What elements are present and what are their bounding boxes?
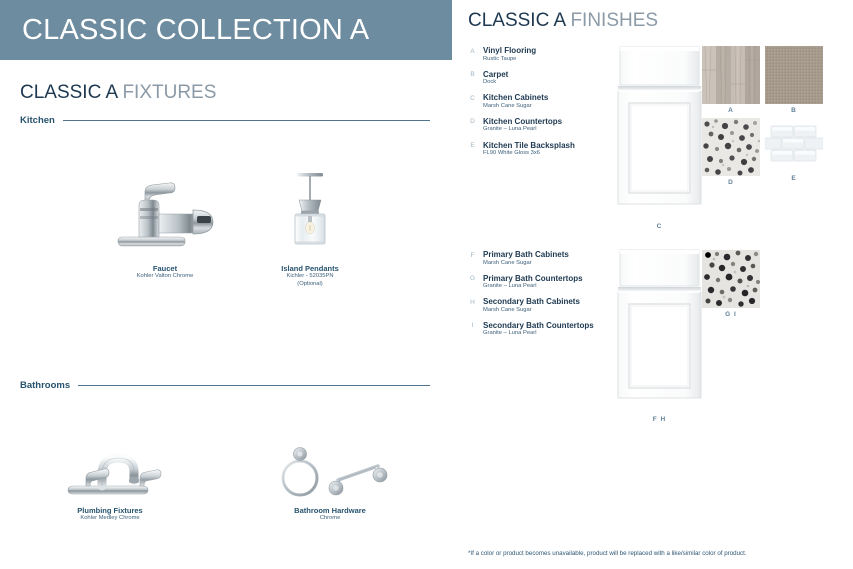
kitchen-faucet-icon — [100, 170, 230, 260]
subway-tile-swatch — [765, 122, 823, 172]
legend-key: C — [468, 93, 477, 110]
group-bathrooms-label: Bathrooms — [20, 380, 70, 391]
spec-sheet-page: CLASSIC COLLECTION A CLASSIC A FIXTURES … — [0, 0, 853, 569]
granite-swatch — [702, 118, 760, 176]
fixture-faucet: Faucet Kohler Valton Chrome — [100, 170, 230, 281]
legend-name: Kitchen Countertops — [483, 117, 562, 127]
finishes-column: CLASSIC A FINISHES A Vinyl Flooring Rust… — [460, 0, 853, 569]
group-kitchen-label: Kitchen — [20, 115, 55, 126]
legend-key: A — [468, 46, 477, 63]
fixture-pendants-name: Island Pendants — [245, 264, 375, 273]
towel-hardware-icon — [265, 440, 395, 502]
legend-sub: Marsh Cane Sugar — [483, 307, 580, 315]
finishes-title-light: FINISHES — [570, 10, 658, 31]
legend-name: Primary Bath Cabinets — [483, 250, 569, 260]
fixture-hardware-sub: Chrome — [265, 515, 395, 523]
group-kitchen-rule — [63, 120, 430, 121]
legend-sub: Rustic Taupe — [483, 56, 536, 64]
legend-sub: Granite – Luna Pearl — [483, 126, 562, 134]
swatch-D-label: D — [702, 179, 760, 186]
legend-name: Vinyl Flooring — [483, 46, 536, 56]
legend-key: D — [468, 117, 477, 134]
fixture-pendants-sub2: (Optional) — [245, 281, 375, 289]
fixture-plumbing-name: Plumbing Fixtures — [45, 506, 175, 515]
fixture-island-pendants: Island Pendants Kichler - 52035PN (Optio… — [245, 170, 375, 288]
finishes-section-title: CLASSIC A FINISHES — [468, 10, 658, 32]
swatch-E-label: E — [765, 175, 823, 182]
legend-name: Secondary Bath Cabinets — [483, 297, 580, 307]
legend-key: B — [468, 70, 477, 87]
group-kitchen: Kitchen — [20, 115, 430, 126]
legend-key: G — [468, 274, 477, 291]
group-bathrooms: Bathrooms — [20, 380, 430, 391]
legend-sub: FL90 White Gloss 3x6 — [483, 150, 575, 158]
legend-sub: Granite – Luna Pearl — [483, 330, 594, 338]
legend-sub: Dock — [483, 79, 508, 87]
swatch-C: C — [612, 45, 707, 230]
pendant-light-icon — [245, 170, 375, 260]
legend-sub: Marsh Cane Sugar — [483, 103, 548, 111]
swatch-C-label: C — [612, 223, 707, 230]
legend-sub: Granite – Luna Pearl — [483, 283, 583, 291]
finishes-title-bold: CLASSIC A — [468, 10, 565, 31]
fixture-faucet-sub: Kohler Valton Chrome — [100, 273, 230, 281]
fixtures-column: CLASSIC A FIXTURES Kitchen — [0, 60, 452, 569]
swatch-GI-label: G I — [702, 311, 760, 318]
fixture-bath-hardware: Bathroom Hardware Chrome — [265, 440, 395, 523]
legend-name: Secondary Bath Countertops — [483, 321, 594, 331]
legend-name: Primary Bath Countertops — [483, 274, 583, 284]
fixtures-title-light: FIXTURES — [122, 82, 216, 103]
legend-name: Kitchen Cabinets — [483, 93, 548, 103]
granite-swatch — [702, 250, 760, 308]
swatch-D: D — [702, 118, 760, 186]
swatch-A-label: A — [702, 107, 760, 114]
swatch-FH-label: F H — [612, 416, 707, 423]
legend-key: H — [468, 297, 477, 314]
legend-key: E — [468, 141, 477, 158]
disclaimer-footnote: *If a color or product becomes unavailab… — [468, 550, 848, 557]
group-bathrooms-rule — [78, 385, 430, 386]
cabinet-door-image — [612, 45, 707, 215]
legend-sub: Marsh Cane Sugar — [483, 260, 569, 268]
fixture-faucet-name: Faucet — [100, 264, 230, 273]
legend-name: Carpet — [483, 70, 508, 80]
carpet-swatch — [765, 46, 823, 104]
vinyl-plank-swatch — [702, 46, 760, 104]
swatch-GI: G I — [702, 250, 760, 318]
legend-key: F — [468, 250, 477, 267]
swatch-B: B — [765, 46, 823, 114]
swatch-FH: F H — [612, 248, 707, 423]
swatch-B-label: B — [765, 107, 823, 114]
fixture-pendants-sub: Kichler - 52035PN — [245, 273, 375, 281]
legend-name: Kitchen Tile Backsplash — [483, 141, 575, 151]
fixtures-title-bold: CLASSIC A — [20, 82, 117, 103]
fixture-hardware-name: Bathroom Hardware — [265, 506, 395, 515]
page-header-bar: CLASSIC COLLECTION A — [0, 0, 452, 60]
page-title: CLASSIC COLLECTION A — [0, 14, 369, 47]
swatch-A: A — [702, 46, 760, 114]
fixture-plumbing: Plumbing Fixtures Kohler Medley Chrome — [45, 440, 175, 523]
bath-faucet-icon — [45, 440, 175, 502]
fixtures-section-title: CLASSIC A FIXTURES — [20, 82, 216, 104]
fixture-plumbing-sub: Kohler Medley Chrome — [45, 515, 175, 523]
cabinet-door-image — [612, 248, 707, 408]
legend-key: I — [468, 321, 477, 338]
swatch-E: E — [765, 122, 823, 182]
